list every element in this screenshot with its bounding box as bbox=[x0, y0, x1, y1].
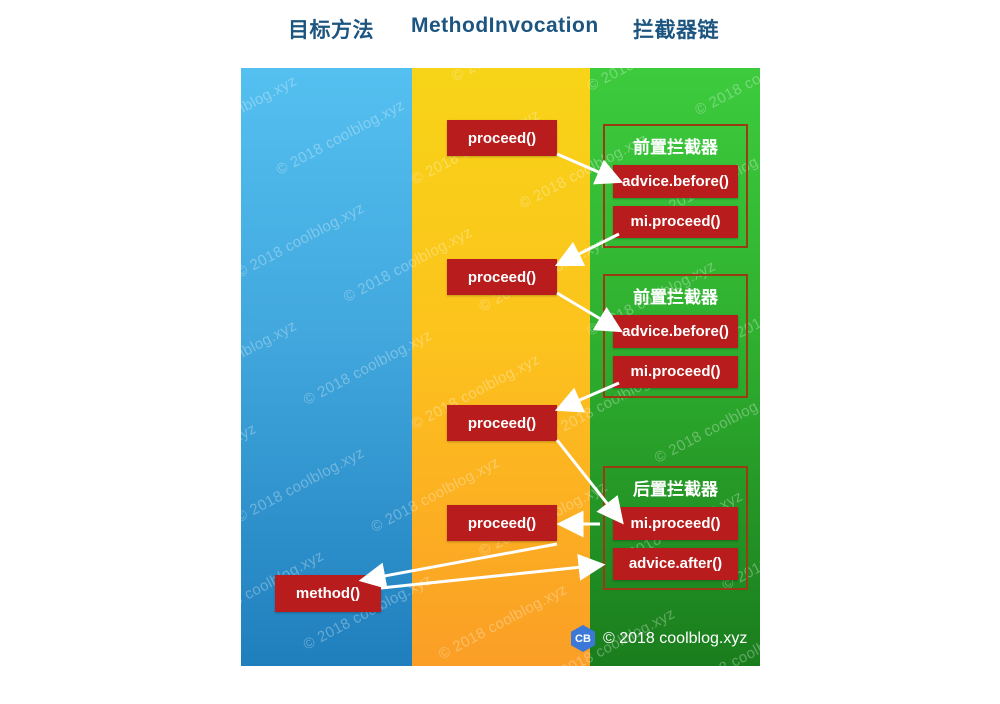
method-box-label: method() bbox=[296, 585, 360, 602]
header-method-invocation: MethodInvocation bbox=[411, 14, 599, 38]
coolblog-logo-icon: CB bbox=[571, 625, 595, 652]
header-target-method: 目标方法 bbox=[288, 14, 374, 44]
interceptor-group-2-step-2: mi.proceed() bbox=[613, 356, 738, 389]
copyright-text: © 2018 coolblog.xyz bbox=[603, 630, 747, 648]
interceptor-group-3-step-2: advice.after() bbox=[613, 548, 738, 581]
proceed-box-3-label: proceed() bbox=[468, 415, 536, 432]
proceed-box-3: proceed() bbox=[447, 405, 557, 441]
interceptor-group-2-step-1-label: advice.before() bbox=[622, 323, 729, 340]
proceed-box-4-label: proceed() bbox=[468, 515, 536, 532]
proceed-box-4: proceed() bbox=[447, 505, 557, 541]
interceptor-group-3-step-2-label: advice.after() bbox=[629, 555, 722, 572]
interceptor-group-1-step-2-label: mi.proceed() bbox=[630, 213, 720, 230]
column-method-invocation bbox=[412, 68, 590, 666]
interceptor-group-3-title: 后置拦截器 bbox=[633, 475, 718, 500]
proceed-box-2: proceed() bbox=[447, 259, 557, 295]
proceed-box-1: proceed() bbox=[447, 120, 557, 156]
interceptor-group-1: 前置拦截器 advice.before() mi.proceed() bbox=[603, 124, 748, 248]
interceptor-group-2-step-2-label: mi.proceed() bbox=[630, 363, 720, 380]
interceptor-group-1-title: 前置拦截器 bbox=[633, 133, 718, 158]
interceptor-group-2: 前置拦截器 advice.before() mi.proceed() bbox=[603, 274, 748, 398]
proceed-box-1-label: proceed() bbox=[468, 130, 536, 147]
interceptor-group-1-step-2: mi.proceed() bbox=[613, 206, 738, 239]
interceptor-group-3-step-1-label: mi.proceed() bbox=[630, 515, 720, 532]
interceptor-group-1-step-1: advice.before() bbox=[613, 165, 738, 198]
proceed-box-2-label: proceed() bbox=[468, 269, 536, 286]
interceptor-group-1-step-1-label: advice.before() bbox=[622, 173, 729, 190]
interceptor-group-2-title: 前置拦截器 bbox=[633, 283, 718, 308]
column-headers: 目标方法 MethodInvocation 拦截器链 bbox=[0, 14, 1000, 50]
footer-credit: CB © 2018 coolblog.xyz bbox=[571, 625, 747, 652]
interceptor-group-2-step-1: advice.before() bbox=[613, 315, 738, 348]
diagram-canvas: © 2018 coolblog.xyz© 2018 coolblog.xyz© … bbox=[241, 68, 760, 666]
method-box: method() bbox=[275, 575, 381, 612]
interceptor-group-3-step-1: mi.proceed() bbox=[613, 507, 738, 540]
header-interceptor-chain: 拦截器链 bbox=[633, 14, 719, 44]
interceptor-group-3: 后置拦截器 mi.proceed() advice.after() bbox=[603, 466, 748, 590]
